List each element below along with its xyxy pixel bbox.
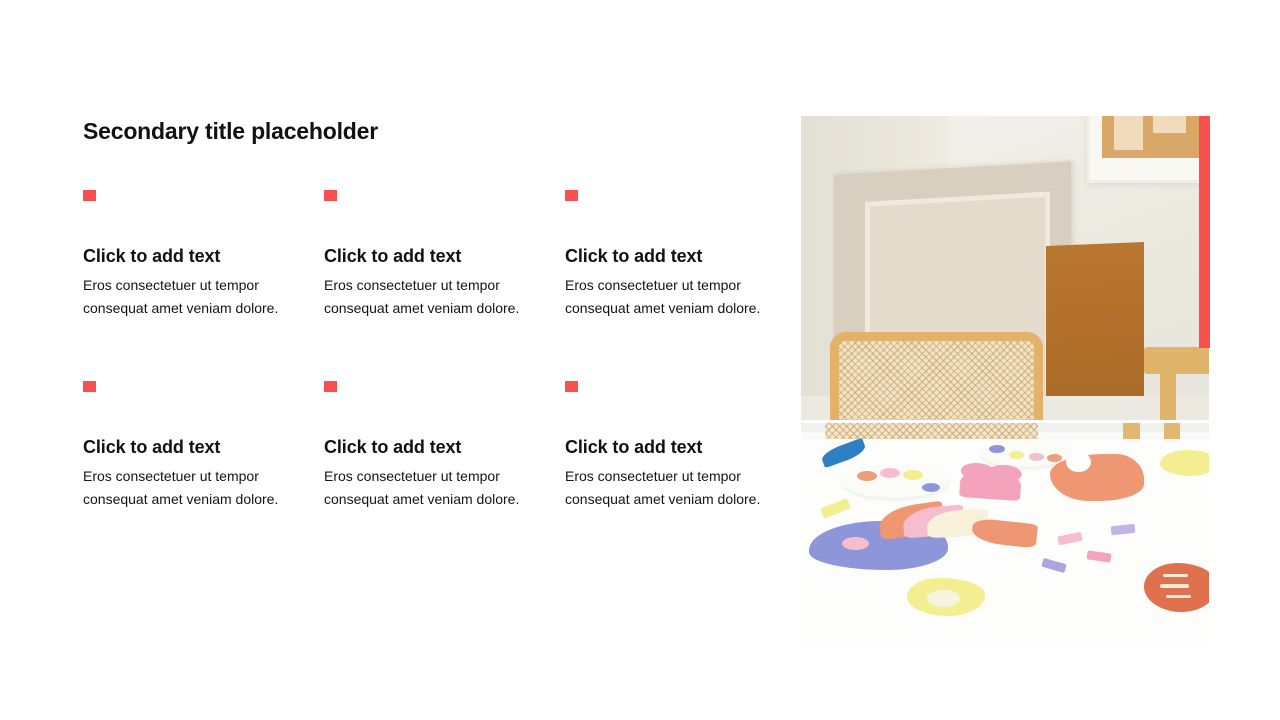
red-square-marker-icon [565, 381, 578, 392]
feature-card-heading[interactable]: Click to add text [83, 436, 288, 458]
feature-card-heading[interactable]: Click to add text [565, 245, 770, 267]
red-square-marker-icon [324, 381, 337, 392]
content-column: Secondary title placeholder Click to add… [83, 116, 773, 510]
feature-card[interactable]: Click to add text Eros consectetuer ut t… [324, 381, 529, 510]
feature-card[interactable]: Click to add text Eros consectetuer ut t… [83, 381, 288, 510]
feature-card-body[interactable]: Eros consectetuer ut tempor consequat am… [83, 274, 283, 319]
feature-card-grid: Click to add text Eros consectetuer ut t… [83, 190, 773, 510]
red-accent-bar [1199, 116, 1210, 348]
interior-photo-art [801, 116, 1209, 420]
slide-canvas: Secondary title placeholder Click to add… [0, 0, 1280, 720]
feature-card-heading[interactable]: Click to add text [83, 245, 288, 267]
red-square-marker-icon [83, 190, 96, 201]
feature-card-body[interactable]: Eros consectetuer ut tempor consequat am… [565, 274, 765, 319]
feature-card-heading[interactable]: Click to add text [565, 436, 770, 458]
feature-card-heading[interactable]: Click to add text [324, 245, 529, 267]
red-square-marker-icon [565, 190, 578, 201]
red-square-marker-icon [83, 381, 96, 392]
feature-card-body[interactable]: Eros consectetuer ut tempor consequat am… [324, 274, 524, 319]
feature-card-heading[interactable]: Click to add text [324, 436, 529, 458]
craft-photo-art [801, 423, 1209, 645]
media-stack [801, 116, 1209, 645]
craft-table-paper-cutouts-photo[interactable] [801, 423, 1209, 645]
feature-card[interactable]: Click to add text Eros consectetuer ut t… [83, 190, 288, 319]
red-square-marker-icon [324, 190, 337, 201]
feature-card-body[interactable]: Eros consectetuer ut tempor consequat am… [565, 465, 765, 510]
feature-card-body[interactable]: Eros consectetuer ut tempor consequat am… [324, 465, 524, 510]
interior-frames-and-chair-photo[interactable] [801, 116, 1209, 420]
page-title: Secondary title placeholder [83, 116, 773, 146]
feature-card-body[interactable]: Eros consectetuer ut tempor consequat am… [83, 465, 283, 510]
feature-card[interactable]: Click to add text Eros consectetuer ut t… [565, 190, 770, 319]
feature-card[interactable]: Click to add text Eros consectetuer ut t… [324, 190, 529, 319]
feature-card[interactable]: Click to add text Eros consectetuer ut t… [565, 381, 770, 510]
